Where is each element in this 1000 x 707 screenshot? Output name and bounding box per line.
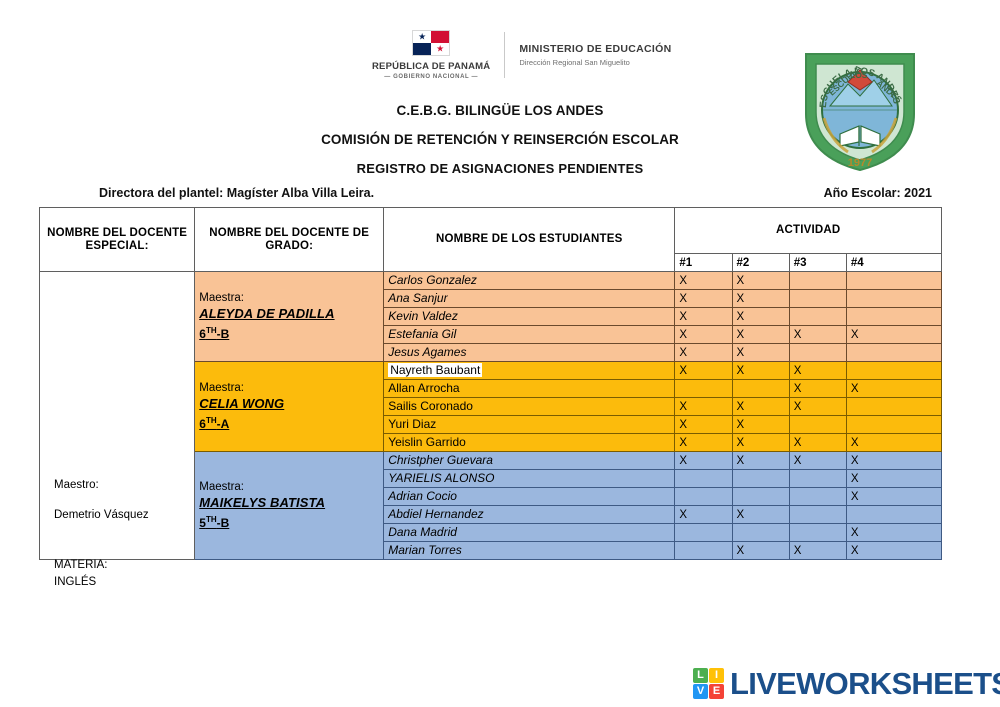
student-name-cell: Estefania Gil [384,326,675,344]
activity-mark-2 [732,470,789,488]
grade-teacher-role: Maestra: [199,381,379,396]
grade-teacher-name-wrap: ALEYDA DE PADILLA [199,306,379,323]
activity-number-1: #1 [675,254,732,272]
student-name: Allan Arrocha [388,381,459,395]
student-name-cell: Christpher Guevara [384,452,675,470]
activity-mark-4 [846,416,941,434]
grade-teacher-cell: Maestra:ALEYDA DE PADILLA6TH-B [195,272,384,362]
activity-mark-2: X [732,434,789,452]
activity-mark-1 [675,470,732,488]
republic-subtitle: — GOBIERNO NACIONAL — [384,74,478,80]
activity-mark-2: X [732,398,789,416]
grade-level-suffix: TH [206,416,217,425]
grade-teacher-name-wrap: MAIKELYS BATISTA [199,495,379,512]
grade-teacher-name-wrap: CELIA WONG [199,396,379,413]
column-header-grade-teacher: NOMBRE DEL DOCENTE DE GRADO: [195,208,384,272]
student-name: YARIELIS ALONSO [388,471,494,485]
activity-number-4: #4 [846,254,941,272]
institutional-header: ★ ★ REPÚBLICA DE PANAMÁ — GOBIERNO NACIO… [372,30,672,80]
grade-teacher-name: MAIKELYS BATISTA [199,495,325,510]
grade-teacher-role: Maestra: [199,480,379,495]
activity-mark-2: X [732,344,789,362]
assignments-table: NOMBRE DEL DOCENTE ESPECIAL:NOMBRE DEL D… [39,207,942,560]
special-teacher-subject: INGLÉS [54,576,96,588]
activity-mark-3: X [789,398,846,416]
student-name-cell: Yuri Diaz [384,416,675,434]
activity-mark-3 [789,344,846,362]
assignments-table-wrapper: NOMBRE DEL DOCENTE ESPECIAL:NOMBRE DEL D… [39,207,942,560]
activity-mark-1: X [675,398,732,416]
activity-mark-2 [732,380,789,398]
table-row: Maestro:Demetrio VásquezMATERIA:INGLÉSMa… [40,272,942,290]
student-name-cell: Kevin Valdez [384,308,675,326]
student-name: Jesus Agames [388,345,466,359]
activity-mark-4: X [846,542,941,560]
student-name-cell: Marian Torres [384,542,675,560]
student-name: Marian Torres [388,543,462,557]
student-name-cell: Carlos Gonzalez [384,272,675,290]
ministry-block: MINISTERIO DE EDUCACIÓN Dirección Region… [519,43,671,67]
student-name: Yuri Diaz [388,417,436,431]
grade-level: 5TH-B [199,512,229,531]
activity-mark-4: X [846,524,941,542]
activity-mark-1: X [675,452,732,470]
activity-mark-4 [846,398,941,416]
special-teacher-subject-label: MATERIA: [54,559,107,571]
live-block-i: I [709,668,724,683]
assignments-table-body: NOMBRE DEL DOCENTE ESPECIAL:NOMBRE DEL D… [40,208,942,560]
grade-level: 6TH-B [199,323,229,342]
republic-block: ★ ★ REPÚBLICA DE PANAMÁ — GOBIERNO NACIO… [372,30,490,80]
live-block-v: V [693,684,708,699]
activity-mark-4 [846,308,941,326]
activity-mark-4 [846,290,941,308]
grade-level-suffix: TH [206,515,217,524]
column-header-special-teacher: NOMBRE DEL DOCENTE ESPECIAL: [40,208,195,272]
live-block-e: E [709,684,724,699]
student-name-cell: Yeislin Garrido [384,434,675,452]
activity-mark-3: X [789,452,846,470]
student-name: Yeislin Garrido [388,435,466,449]
special-teacher-name: Demetrio Vásquez [54,509,149,521]
header-divider [504,32,505,78]
activity-mark-2: X [732,290,789,308]
student-name-cell: Abdiel Hernandez [384,506,675,524]
activity-mark-1: X [675,416,732,434]
activity-mark-4: X [846,434,941,452]
student-name: Nayreth Baubant [388,363,482,377]
activity-mark-2: X [732,326,789,344]
activity-mark-3 [789,308,846,326]
worksheet-page: ★ ★ REPÚBLICA DE PANAMÁ — GOBIERNO NACIO… [0,0,1000,707]
activity-mark-4: X [846,488,941,506]
student-name: Adrian Cocio [388,489,457,503]
student-name-cell: Jesus Agames [384,344,675,362]
activity-mark-3: X [789,362,846,380]
republic-name: REPÚBLICA DE PANAMÁ [372,61,490,72]
activity-number-3: #3 [789,254,846,272]
activity-mark-3 [789,272,846,290]
activity-mark-1: X [675,272,732,290]
student-name: Dana Madrid [388,525,457,539]
activity-mark-4 [846,506,941,524]
activity-mark-1: X [675,434,732,452]
grade-teacher-name: CELIA WONG [199,396,284,411]
activity-mark-2 [732,524,789,542]
grade-level: 6TH-A [199,413,229,432]
director-line: Directora del plantel: Magíster Alba Vil… [99,186,374,200]
grade-teacher-cell: Maestra:MAIKELYS BATISTA5TH-B [195,452,384,560]
special-teacher-role: Maestro: [54,479,99,491]
page-title-registry: REGISTRO DE ASIGNACIONES PENDIENTES [0,161,1000,176]
panama-flag-icon: ★ ★ [412,30,450,56]
grade-level-suffix: TH [206,326,217,335]
column-header-activity: ACTIVIDAD [675,208,942,254]
table-header-row: NOMBRE DEL DOCENTE ESPECIAL:NOMBRE DEL D… [40,208,942,254]
student-name-cell: Adrian Cocio [384,488,675,506]
activity-mark-2: X [732,416,789,434]
grade-teacher-name: ALEYDA DE PADILLA [199,306,334,321]
activity-mark-3 [789,488,846,506]
student-name-cell: Nayreth Baubant [384,362,675,380]
student-name: Sailis Coronado [388,399,473,413]
activity-mark-4 [846,272,941,290]
activity-mark-3: X [789,326,846,344]
activity-mark-1 [675,488,732,506]
activity-mark-4: X [846,452,941,470]
student-name: Abdiel Hernandez [388,507,483,521]
grade-level-wrap: 6TH-B [199,323,379,343]
school-year-line: Año Escolar: 2021 [824,186,932,200]
student-name-cell: Dana Madrid [384,524,675,542]
activity-mark-4: X [846,470,941,488]
grade-level-wrap: 6TH-A [199,413,379,433]
activity-mark-1 [675,542,732,560]
liveworksheets-text: LIVEWORKSHEETS [730,668,1000,699]
ministry-name: MINISTERIO DE EDUCACIÓN [519,43,671,55]
svg-text:LOS: LOS [850,70,868,80]
activity-mark-4 [846,362,941,380]
activity-mark-4 [846,344,941,362]
page-title-commission: COMISIÓN DE RETENCIÓN Y REINSERCIÓN ESCO… [0,132,1000,147]
student-name-cell: YARIELIS ALONSO [384,470,675,488]
activity-mark-1 [675,380,732,398]
activity-mark-3 [789,470,846,488]
student-name: Christpher Guevara [388,453,493,467]
activity-mark-4: X [846,380,941,398]
activity-mark-1: X [675,506,732,524]
activity-mark-2: X [732,272,789,290]
activity-mark-1: X [675,308,732,326]
liveworksheets-watermark: L I V E LIVEWORKSHEETS [693,668,1000,699]
activity-mark-4: X [846,326,941,344]
activity-mark-3 [789,416,846,434]
activity-mark-3: X [789,542,846,560]
activity-mark-2 [732,488,789,506]
activity-mark-3 [789,506,846,524]
activity-mark-3: X [789,380,846,398]
live-block-l: L [693,668,708,683]
student-name-cell: Sailis Coronado [384,398,675,416]
grade-level-wrap: 5TH-B [199,512,379,532]
column-header-students: NOMBRE DE LOS ESTUDIANTES [384,208,675,272]
student-name-cell: Ana Sanjur [384,290,675,308]
activity-mark-2: X [732,542,789,560]
student-name: Carlos Gonzalez [388,273,477,287]
special-teacher-cell: Maestro:Demetrio VásquezMATERIA:INGLÉS [40,272,195,560]
ministry-subtitle: Dirección Regional San Miguelito [519,58,671,67]
activity-mark-3 [789,290,846,308]
activity-mark-1: X [675,362,732,380]
activity-mark-1: X [675,290,732,308]
student-name: Estefania Gil [388,327,456,341]
activity-mark-3: X [789,434,846,452]
activity-mark-2: X [732,506,789,524]
activity-mark-1: X [675,344,732,362]
activity-number-2: #2 [732,254,789,272]
student-name: Kevin Valdez [388,309,458,323]
student-name: Ana Sanjur [388,291,447,305]
activity-mark-2: X [732,452,789,470]
activity-mark-3 [789,524,846,542]
activity-mark-2: X [732,308,789,326]
grade-teacher-role: Maestra: [199,291,379,306]
live-blocks-icon: L I V E [693,668,724,699]
activity-mark-2: X [732,362,789,380]
activity-mark-1: X [675,326,732,344]
grade-teacher-cell: Maestra:CELIA WONG6TH-A [195,362,384,452]
student-name-cell: Allan Arrocha [384,380,675,398]
activity-mark-1 [675,524,732,542]
page-title-school: C.E.B.G. BILINGÜE LOS ANDES [0,103,1000,118]
